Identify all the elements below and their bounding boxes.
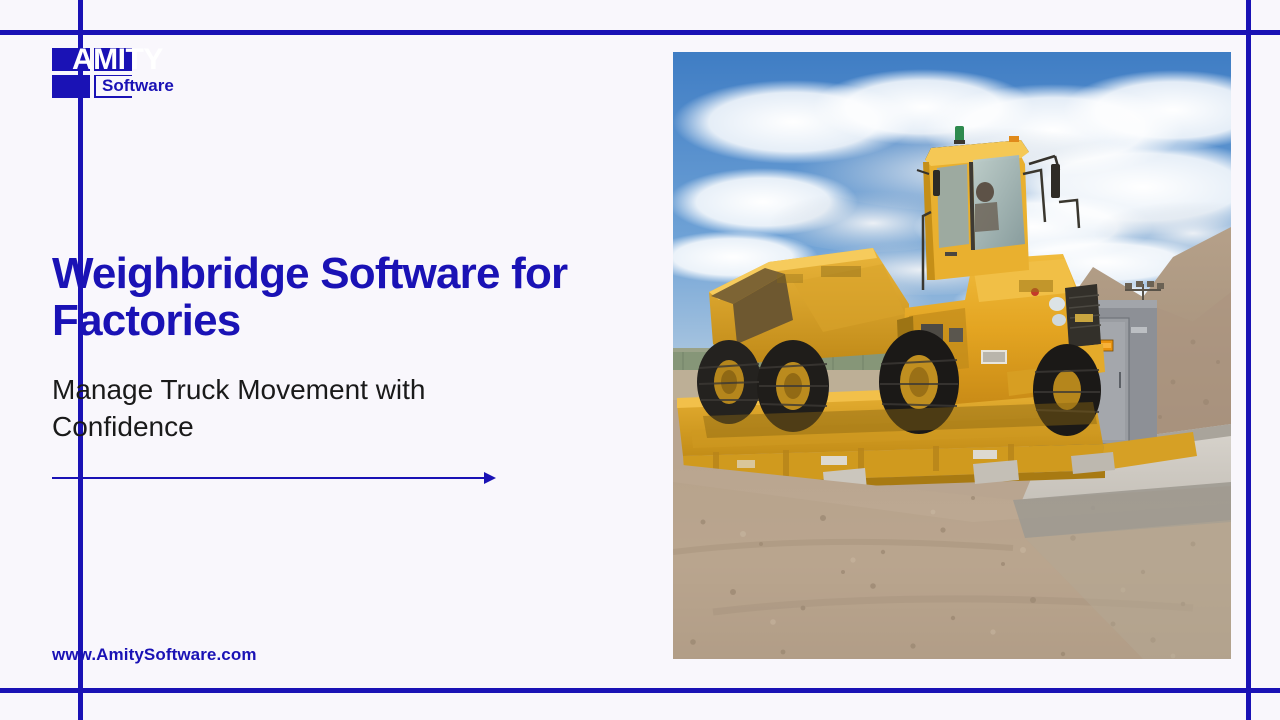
logo-square-bottom-left [52, 75, 90, 98]
logo-wordmark: AMITY [72, 46, 163, 74]
logo-subtext: Software [96, 76, 174, 96]
truck-cab [923, 140, 1029, 280]
weighbridge-truck-illustration [673, 52, 1231, 659]
frame-line-vertical-right [1246, 0, 1251, 720]
amity-software-logo[interactable]: AMITY Software [52, 48, 232, 104]
arrow-rule-divider [52, 468, 497, 488]
arrow-right-icon [52, 468, 497, 488]
beacon-light-icon [954, 126, 965, 144]
frame-line-horizontal-bottom [0, 688, 1280, 693]
website-url[interactable]: www.AmitySoftware.com [52, 645, 257, 665]
content-column: AMITY Software Weighbridge Software for … [52, 40, 652, 680]
frame-line-horizontal-top [0, 30, 1280, 35]
logo-wordmark-text: AMITY [72, 43, 163, 76]
page-subtitle: Manage Truck Movement with Confidence [52, 372, 572, 446]
page-title: Weighbridge Software for Factories [52, 250, 632, 344]
hero-photo [673, 52, 1231, 659]
